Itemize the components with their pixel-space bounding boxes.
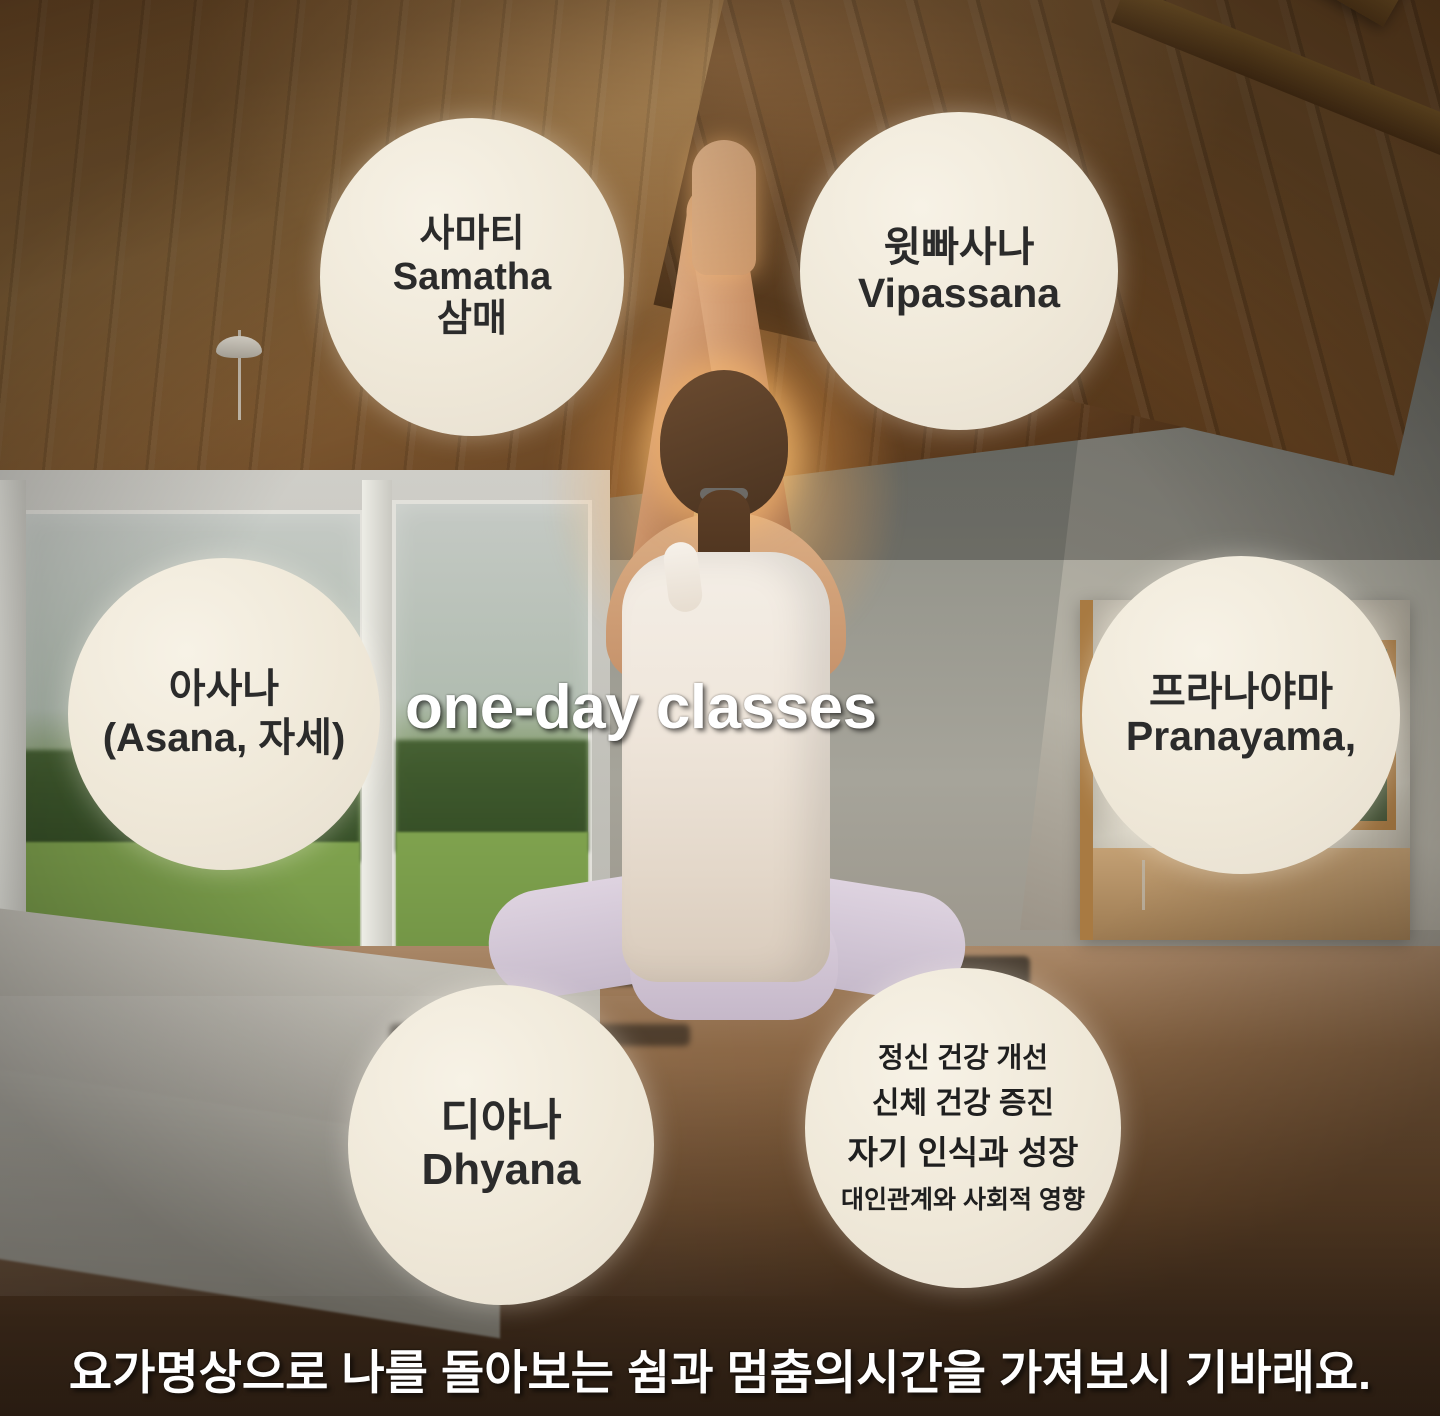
bubble-dhyana-line-2: Dhyana [422,1145,581,1194]
bubble-pranayama-line-2: Pranayama, [1126,714,1356,760]
bubble-samatha-line-3: 삼매 [437,298,507,341]
bubble-samatha-line-2: Samatha [393,256,551,299]
bubble-dhyana: 디야나 Dhyana [348,985,654,1305]
bubble-vipassana-line-2: Vipassana [858,271,1060,317]
bubble-benefits: 정신 건강 개선 신체 건강 증진 자기 인식과 성장 대인관계와 사회적 영향 [805,968,1121,1288]
bubble-samatha-line-1: 사마티 [420,213,525,256]
poster-canvas: one-day classes 사마티 Samatha 삼매 윗빠사나 Vipa… [0,0,1440,1416]
bubble-pranayama-line-1: 프라나야마 [1149,670,1333,715]
bubble-pranayama: 프라나야마 Pranayama, [1082,556,1400,874]
benefit-item-2: 신체 건강 증진 [872,1087,1054,1121]
benefit-item-1: 정신 건강 개선 [878,1042,1048,1073]
bubble-asana: 아사나 (Asana, 자세) [68,558,380,870]
benefit-item-3: 자기 인식과 성장 [848,1135,1079,1172]
bubble-vipassana-line-1: 윗빠사나 [884,225,1035,271]
footer-caption: 요가명상으로 나를 돌아보는 쉼과 멈춤의시간을 가져보시 기바래요. [0,1334,1440,1403]
bubble-asana-line-1: 아사나 [169,667,279,712]
bubble-samatha: 사마티 Samatha 삼매 [320,118,624,436]
page-title: one-day classes [405,672,877,743]
bubble-vipassana: 윗빠사나 Vipassana [800,112,1118,430]
benefit-item-4: 대인관계와 사회적 영향 [841,1186,1085,1214]
bubble-dhyana-line-1: 디야나 [440,1096,561,1145]
bubble-asana-line-2: (Asana, 자세) [103,716,346,761]
